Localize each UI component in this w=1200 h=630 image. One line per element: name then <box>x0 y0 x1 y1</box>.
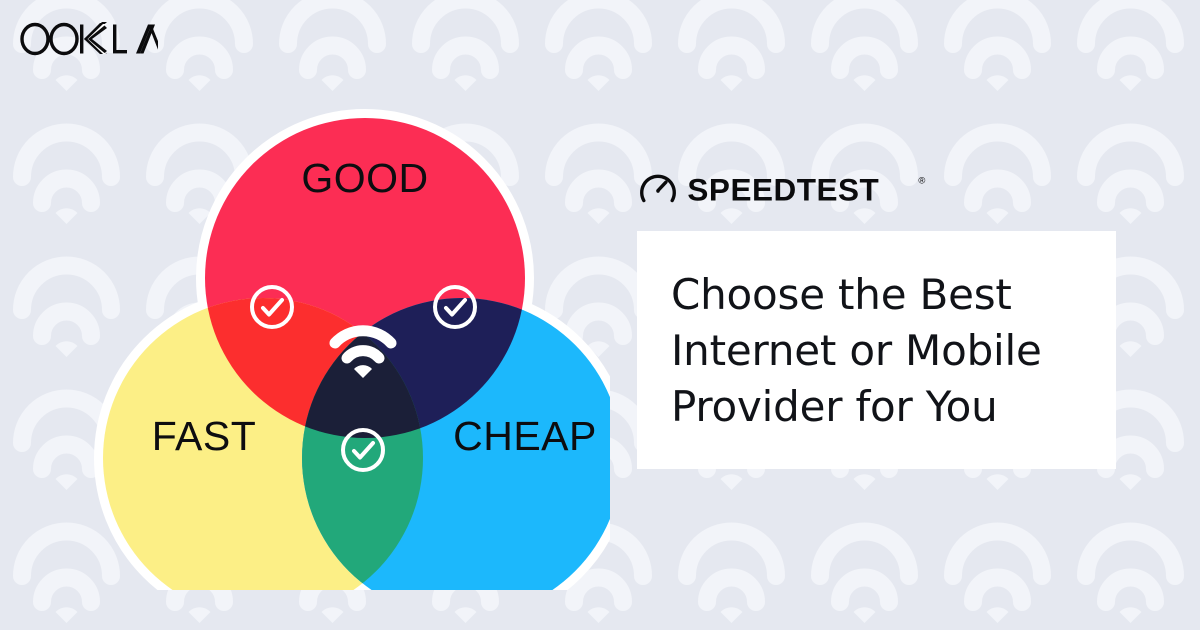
venn-diagram: GOOD FAST CHEAP <box>40 50 610 590</box>
speedometer-gauge-icon <box>642 176 675 200</box>
ookla-logo <box>18 18 158 58</box>
speedtest-logo: SPEEDTEST ® <box>637 168 931 210</box>
headline-card: Choose the Best Internet or Mobile Provi… <box>637 231 1116 469</box>
venn-label-fast: FAST <box>152 413 257 459</box>
speedtest-wordmark: SPEEDTEST <box>687 172 879 208</box>
venn-label-cheap: CHEAP <box>453 413 597 459</box>
registered-mark: ® <box>918 176 925 187</box>
venn-label-good: GOOD <box>301 155 428 201</box>
page-title: Choose the Best Internet or Mobile Provi… <box>671 267 1082 435</box>
right-content-column: SPEEDTEST ® Choose the Best Internet or … <box>637 168 1127 469</box>
